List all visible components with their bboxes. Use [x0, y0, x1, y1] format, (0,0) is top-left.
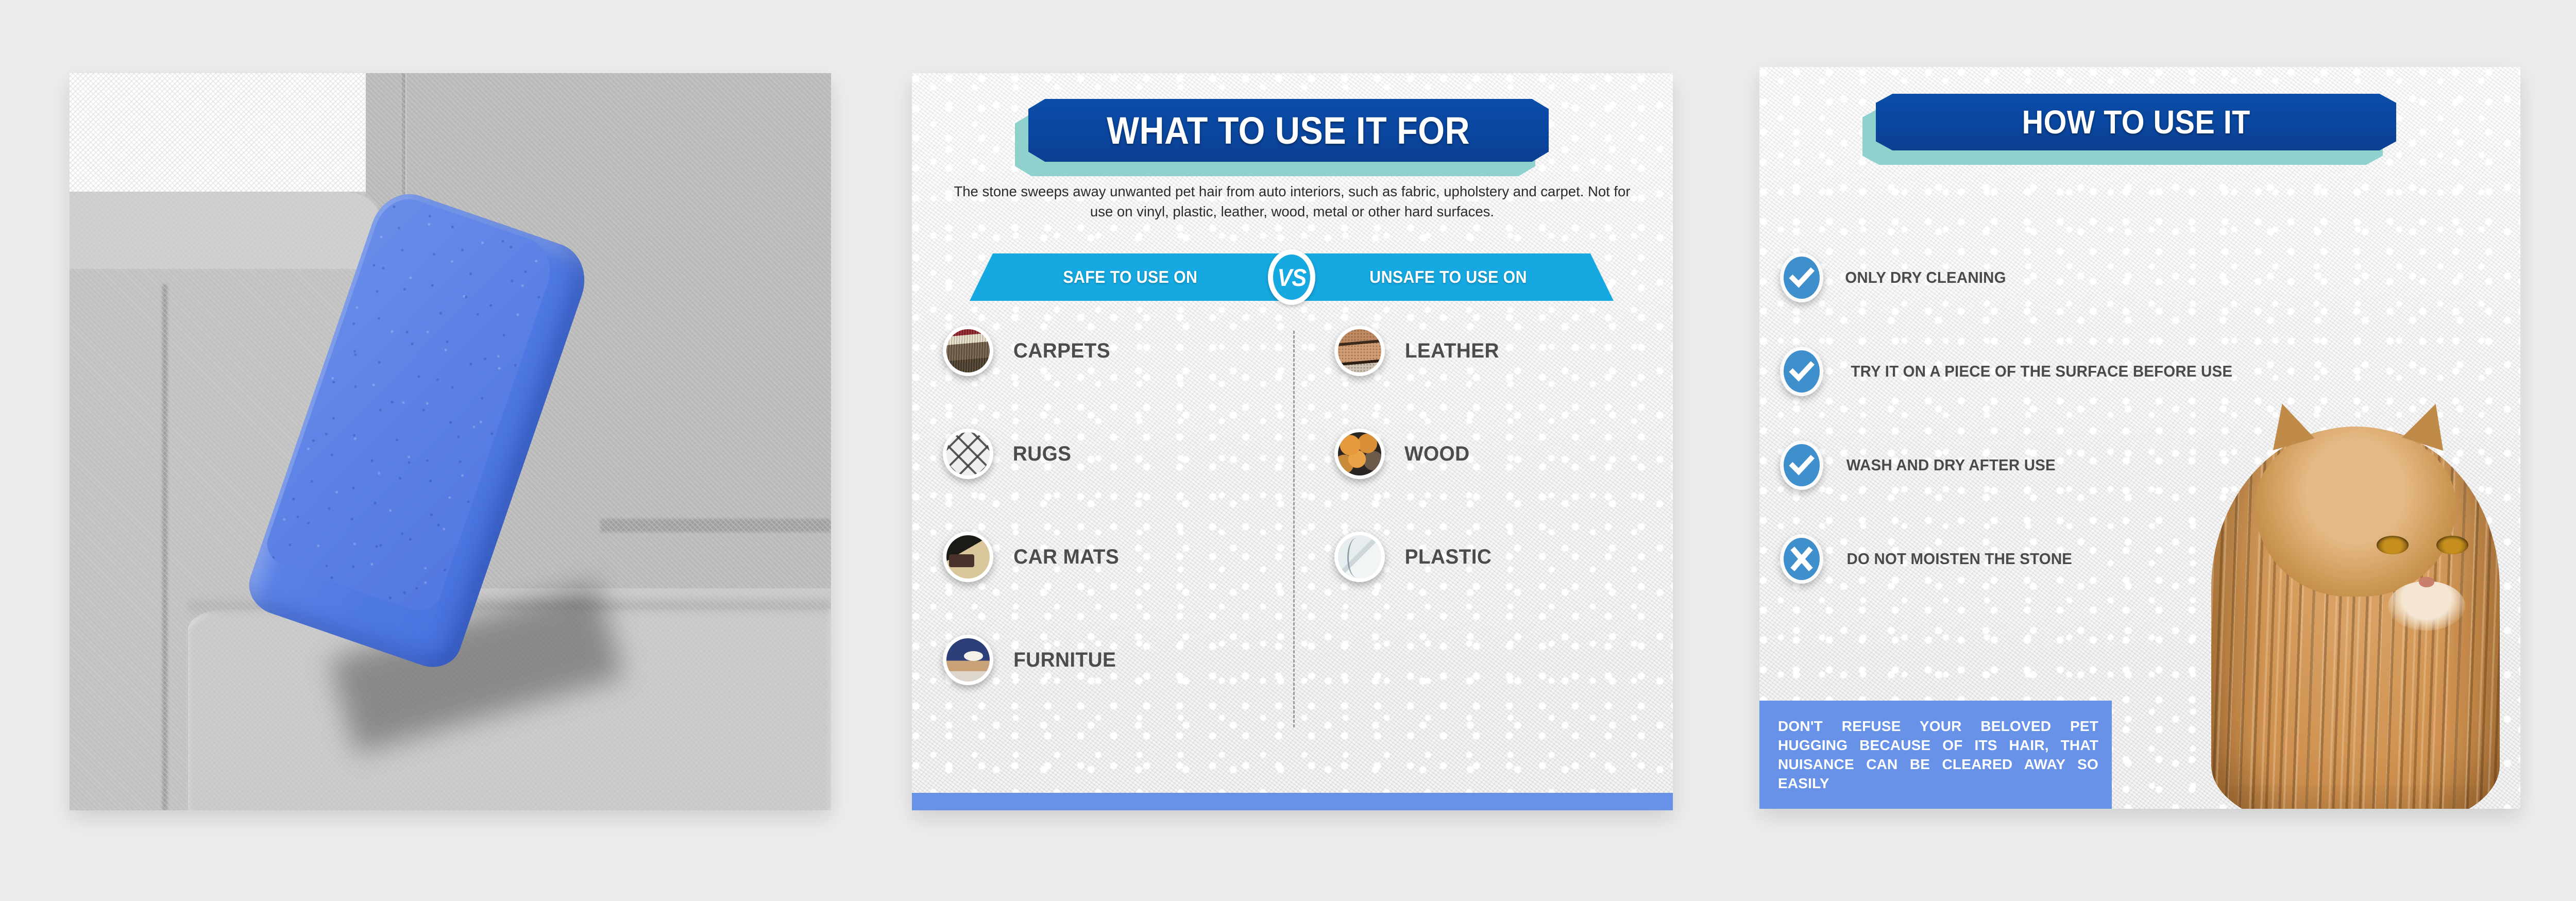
step-wash-and-dry[interactable]: WASH AND DRY AFTER USE	[1780, 418, 2501, 512]
ribbon-blue-band: HOW TO USE IT	[1876, 94, 2396, 150]
step-try-on-piece-first[interactable]: TRY IT ON A PIECE OF THE SURFACE BEFORE …	[1780, 325, 2501, 418]
panel3-title-ribbon: HOW TO USE IT	[1876, 94, 2396, 150]
safe-to-use-on-label: SAFE TO USE ON	[1063, 267, 1197, 287]
panel2-title-ribbon: WHAT TO USE IT FOR	[1028, 99, 1549, 162]
list-item-leather[interactable]: LEATHER	[1334, 326, 1501, 376]
panel2-description: The stone sweeps away unwanted pet hair …	[942, 181, 1642, 222]
step-label: DO NOT MOISTEN THE STONE	[1847, 550, 2073, 568]
what-to-use-it-for-panel: WHAT TO USE IT FOR The stone sweeps away…	[912, 73, 1673, 810]
panel2-footer-bar	[912, 793, 1673, 810]
plastic-thumb-icon	[1334, 532, 1385, 582]
item-label: RUGS	[1013, 443, 1072, 466]
list-item-plastic[interactable]: PLASTIC	[1334, 532, 1493, 582]
vs-badge-label: VS	[1277, 263, 1306, 292]
list-item-car-mats[interactable]: CAR MATS	[943, 532, 1121, 582]
step-label: WASH AND DRY AFTER USE	[1846, 456, 2056, 474]
list-item-rugs[interactable]: RUGS	[943, 429, 1072, 479]
wood-thumb-icon	[1334, 429, 1385, 479]
safe-vs-unsafe-banner: SAFE TO USE ON UNSAFE TO USE ON VS	[970, 253, 1614, 301]
rug-thumb-icon	[943, 429, 993, 479]
cross-icon	[1780, 534, 1823, 584]
infographic-stage: WHAT TO USE IT FOR The stone sweeps away…	[0, 0, 2576, 901]
panel3-quote-block: DON'T REFUSE YOUR BELOVED PET HUGGING BE…	[1759, 701, 2112, 809]
ribbon-blue-band: WHAT TO USE IT FOR	[1028, 99, 1549, 162]
step-do-not-moisten[interactable]: DO NOT MOISTEN THE STONE	[1780, 512, 2501, 606]
panel2-title: WHAT TO USE IT FOR	[1107, 109, 1470, 152]
item-label: PLASTIC	[1405, 546, 1492, 569]
surface-lists: CARPETS RUGS CAR MATS FURNITUE LEATHER	[912, 315, 1673, 743]
sofa-product-image	[70, 73, 831, 810]
list-item-wood[interactable]: WOOD	[1334, 429, 1470, 479]
item-label: LEATHER	[1405, 339, 1499, 363]
car-mat-thumb-icon	[943, 532, 993, 582]
column-divider	[1293, 331, 1295, 727]
product-photo-panel	[70, 73, 831, 810]
item-label: CARPETS	[1013, 339, 1110, 363]
item-label: WOOD	[1404, 443, 1470, 466]
vs-badge: VS	[1268, 249, 1315, 305]
carpet-thumb-icon	[943, 326, 993, 376]
unsafe-to-use-on-label: UNSAFE TO USE ON	[1369, 267, 1527, 287]
item-label: CAR MATS	[1013, 546, 1119, 569]
step-label: TRY IT ON A PIECE OF THE SURFACE BEFORE …	[1851, 362, 2232, 381]
check-icon	[1780, 440, 1823, 490]
list-item-carpets[interactable]: CARPETS	[943, 326, 1112, 376]
panel3-title: HOW TO USE IT	[2022, 103, 2250, 141]
step-label: ONLY DRY CLEANING	[1845, 268, 2006, 287]
check-icon	[1780, 253, 1823, 302]
step-only-dry-cleaning[interactable]: ONLY DRY CLEANING	[1780, 231, 2501, 325]
furniture-thumb-icon	[943, 635, 993, 685]
check-icon	[1780, 347, 1823, 396]
leather-thumb-icon	[1334, 326, 1385, 376]
item-label: FURNITUE	[1013, 649, 1116, 672]
list-item-furniture[interactable]: FURNITUE	[943, 635, 1117, 685]
usage-steps-list: ONLY DRY CLEANING TRY IT ON A PIECE OF T…	[1780, 231, 2501, 606]
how-to-use-it-panel: HOW TO USE IT ONLY DRY CLEANING	[1759, 67, 2520, 809]
